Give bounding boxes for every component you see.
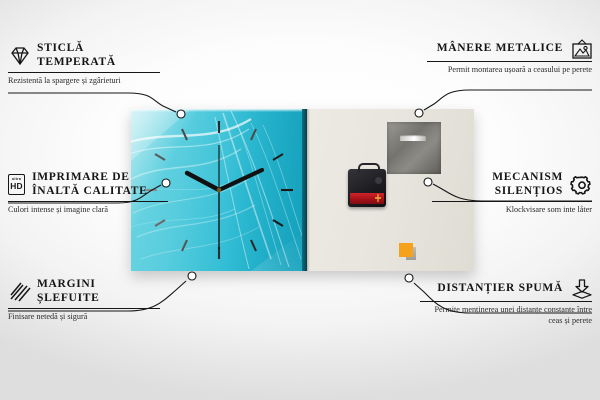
- callout-subtitle: Rezistentă la spargere și zgârieturi: [8, 76, 160, 87]
- spacer-arrow-icon: [570, 278, 592, 298]
- callout-rule: [427, 61, 592, 62]
- callout-title: IMPRIMARE DE ÎNALTĂ CALITATE: [32, 170, 168, 198]
- callout-title: MARGINI ȘLEFUITE: [37, 277, 160, 305]
- callout-rule: [8, 201, 168, 202]
- battery: [350, 193, 384, 204]
- callout-subtitle: Finisare netedă și sigură: [8, 312, 160, 323]
- picture-hanger-icon: [570, 38, 592, 58]
- clock-top-edge: [131, 109, 307, 112]
- diamond-icon: [8, 45, 30, 65]
- polished-edges-icon: [8, 281, 30, 301]
- callout-title: DISTANȚIER SPUMĂ: [437, 281, 563, 295]
- callout-rule: [432, 201, 592, 202]
- callout-polished-edges: MARGINI ȘLEFUITE Finisare netedă și sigu…: [8, 277, 160, 323]
- callout-subtitle: Culori intense și imagine clară: [8, 205, 168, 216]
- callout-title: MÂNERE METALICE: [437, 41, 563, 55]
- metal-hanger-plate: [387, 122, 441, 174]
- panel-inner-shadow: [307, 109, 310, 271]
- callout-high-quality-print: ultra HD IMPRIMARE DE ÎNALTĂ CALITATE Cu…: [8, 170, 168, 216]
- callout-subtitle: Permit montarea ușoară a ceasului pe per…: [427, 65, 592, 76]
- hanger-slot: [400, 135, 426, 141]
- badge-hd-text: HD: [10, 182, 23, 190]
- foam-spacer-face: [399, 243, 413, 257]
- callout-tempered-glass: STICLĂ TEMPERATĂ Rezistentă la spargere …: [8, 41, 160, 87]
- callout-rule: [8, 308, 160, 309]
- callout-title: MECANISM SILENȚIOS: [432, 170, 563, 198]
- callout-rule: [8, 72, 160, 73]
- ultra-hd-badge-icon: ultra HD: [8, 174, 25, 195]
- callout-subtitle: Klockvisare som inte låter: [432, 205, 592, 216]
- infographic-stage: STICLĂ TEMPERATĂ Rezistentă la spargere …: [0, 0, 600, 400]
- gear-icon: [570, 174, 592, 194]
- callout-title: STICLĂ TEMPERATĂ: [37, 41, 160, 69]
- callout-metal-handles: MÂNERE METALICE Permit montarea ușoară a…: [427, 38, 592, 76]
- callout-foam-spacer: DISTANȚIER SPUMĂ Permite menținerea unei…: [420, 278, 592, 326]
- callout-subtitle: Permite menținerea unei distanțe constan…: [420, 305, 592, 326]
- foam-spacer: [399, 243, 416, 260]
- battery-plus-icon: [375, 194, 381, 202]
- callout-silent-mechanism: MECANISM SILENȚIOS Klockvisare som inte …: [432, 170, 592, 216]
- product-image: [131, 109, 474, 271]
- clock-mechanism: [348, 169, 386, 207]
- mechanism-knob: [375, 177, 382, 184]
- callout-rule: [420, 301, 592, 302]
- mechanism-hook: [358, 163, 380, 173]
